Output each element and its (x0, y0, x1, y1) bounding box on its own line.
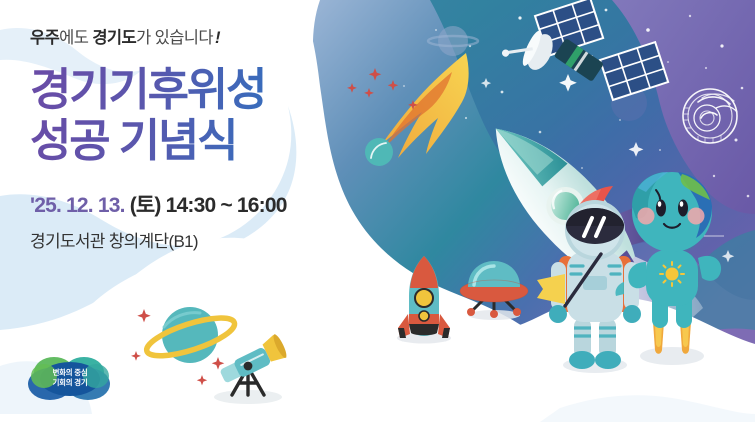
brand-logo-mark (24, 354, 116, 402)
event-day-of-week: (토) (130, 194, 161, 217)
kicker-bold-1: 우주 (30, 29, 59, 47)
event-datetime: '25. 12. 13. (토) 14:30 ~ 16:00 (30, 189, 390, 219)
event-time-range: 14:30 ~ 16:00 (166, 194, 287, 217)
kicker-plain-2: 가 있습니다 (136, 29, 213, 47)
event-poster: 우주에도 경기도가 있습니다! 경기기후위성 성공 기념식 '25. 12. 1… (0, 0, 755, 422)
sun-emblem-icon (660, 262, 684, 286)
kicker-plain-1: 에도 (59, 29, 92, 47)
page-title: 경기기후위성 성공 기념식 (30, 64, 390, 167)
title-line-2: 성공 기념식 (30, 115, 390, 166)
gyeonggi-brand-logo: 변화의 중심 기회의 경기 (24, 354, 116, 402)
event-date: '25. 12. 13. (30, 194, 125, 217)
title-line-1: 경기기후위성 (30, 64, 265, 115)
kicker-bold-2: 경기도 (92, 29, 136, 47)
kicker-line: 우주에도 경기도가 있습니다! (30, 24, 390, 48)
kicker-exclamation: ! (215, 29, 220, 47)
poster-text-block: 우주에도 경기도가 있습니다! 경기기후위성 성공 기념식 '25. 12. 1… (30, 24, 390, 252)
event-venue: 경기도서관 창의계단(B1) (30, 227, 390, 252)
